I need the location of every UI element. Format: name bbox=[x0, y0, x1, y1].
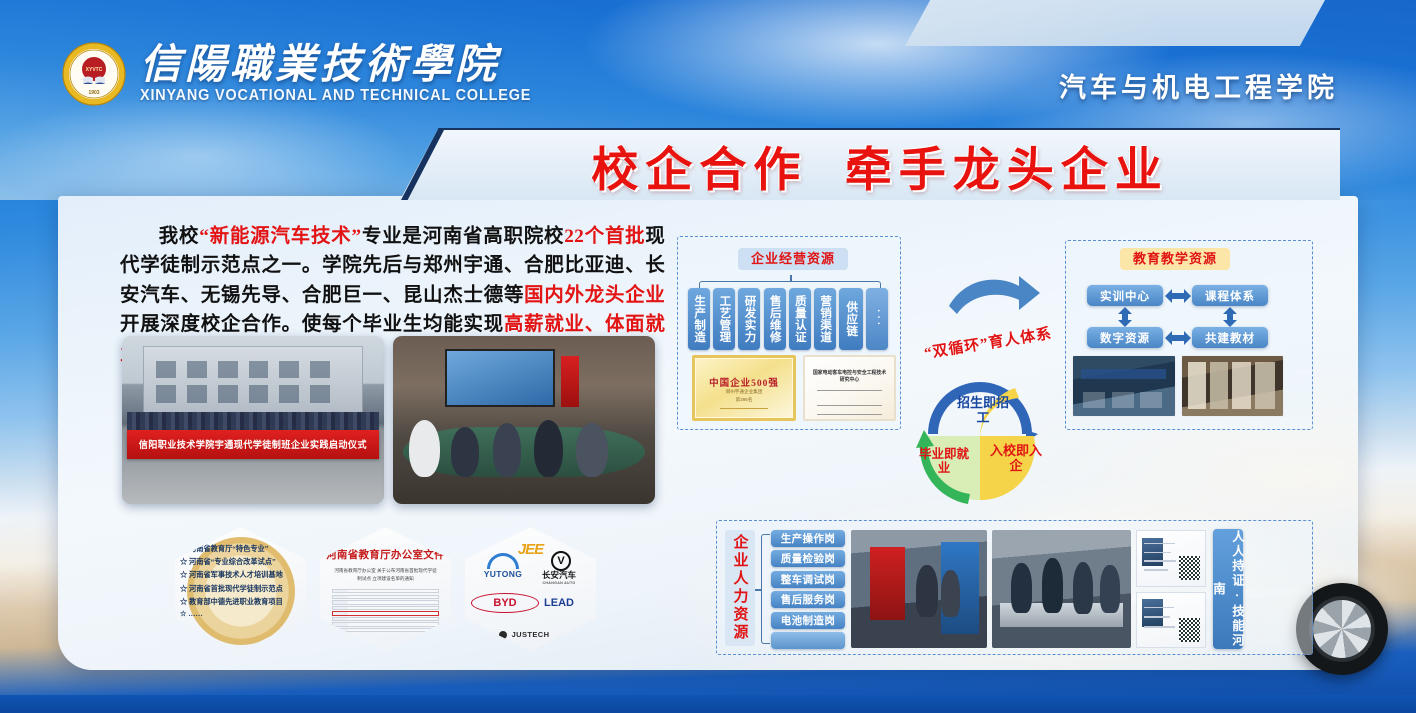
hr-certificate-evaluation bbox=[1136, 592, 1206, 649]
hex-partner-logos: JEE YUTONG V 长安汽车 CHANGAN AUTO BYD LEAD … bbox=[465, 527, 596, 651]
hr-job-list: 生产操作岗 质量检验岗 整车调试岗 售后服务岗 电池制造岗 bbox=[771, 530, 845, 649]
honor-item: 教育部中德先进职业教育项目 bbox=[180, 596, 296, 607]
changan-logo: 长安汽车 CHANGAN AUTO bbox=[530, 569, 588, 585]
photo-ceremony-image: 信阳职业技术学院宇通现代学徒制班企业实践启动仪式 bbox=[122, 336, 384, 504]
lead-logo: LEAD bbox=[530, 597, 588, 609]
enterprise-tag: 供应链 bbox=[839, 288, 863, 350]
thumb-banner-shape bbox=[1081, 369, 1166, 379]
enterprise-tag: 工艺管理 bbox=[713, 288, 735, 350]
changan-label-en: CHANGAN AUTO bbox=[530, 581, 588, 585]
document-row bbox=[332, 595, 439, 599]
education-thumb-textbooks bbox=[1181, 355, 1285, 417]
hr-job-tag: 整车调试岗 bbox=[771, 571, 845, 588]
school-name-en: XINYANG VOCATIONAL AND TECHNICAL COLLEGE bbox=[140, 87, 531, 105]
changan-mark: V bbox=[557, 555, 564, 567]
photo-ceremony: 信阳职业技术学院宇通现代学徒制班企业实践启动仪式 bbox=[122, 336, 384, 504]
honor-item: …… bbox=[180, 609, 296, 618]
hr-certificates bbox=[1136, 530, 1206, 648]
cycle-label-graduate: 毕业即就业 bbox=[915, 447, 973, 475]
svg-text:1903: 1903 bbox=[88, 90, 99, 96]
document-subtitle: 河南省教育厅办公室 关于公布河南省首批现代学徒制试点 立项建设名单的通知 bbox=[334, 567, 437, 583]
ceremony-banner-text: 信阳职业技术学院宇通现代学徒制班企业实践启动仪式 bbox=[139, 437, 367, 451]
enterprise-tag: 营销渠道 bbox=[814, 288, 836, 350]
certificate-research-center: 国家电动客车电控与安全工程技术研究中心 bbox=[803, 355, 896, 421]
yutong-logo: YUTONG bbox=[475, 569, 531, 579]
certificate-top500: 中国企业500强 郑州宇通企业集团 第395名 bbox=[692, 355, 796, 421]
hex-honors-list: 河南省教育厅“特色专业” 河南省“专业综合改革试点” 河南省军事技术人才培训基地… bbox=[175, 527, 306, 651]
enterprise-section-title: 企业经营资源 bbox=[738, 248, 848, 270]
jee-logo: JEE bbox=[465, 541, 596, 558]
hex-logos-inner: JEE YUTONG V 长安汽车 CHANGAN AUTO BYD LEAD … bbox=[465, 527, 596, 651]
document-row bbox=[332, 628, 439, 632]
education-box-digital-resources: 数字资源 bbox=[1087, 327, 1163, 348]
school-name-cn: 信陽職業技術學院 bbox=[140, 43, 561, 86]
honor-item: 河南省军事技术人才培训基地 bbox=[180, 569, 296, 580]
education-thumb-training bbox=[1072, 355, 1176, 417]
certificate-qr-icon bbox=[1179, 618, 1199, 642]
certificate-research-center-title: 国家电动客车电控与安全工程技术研究中心 bbox=[811, 370, 888, 385]
photo-meeting-image bbox=[393, 336, 655, 504]
certificate-divider bbox=[817, 390, 881, 391]
byd-logo: BYD bbox=[477, 597, 533, 609]
intro-text-4: 开展深度校企合作。使每个毕业生均能实现 bbox=[120, 314, 504, 335]
enterprise-tag: 研发实力 bbox=[738, 288, 760, 350]
changan-label-cn: 长安汽车 bbox=[542, 570, 576, 580]
hex-honors-inner: 河南省教育厅“特色专业” 河南省“专业综合改革试点” 河南省军事技术人才培训基地… bbox=[175, 527, 306, 651]
certificate-top500-rank: 第395名 bbox=[695, 397, 793, 403]
document-table bbox=[332, 589, 439, 641]
document-row bbox=[332, 589, 439, 593]
certificate-top500-title: 中国企业500强 bbox=[695, 375, 793, 389]
department-name: 汽车与机电工程学院 bbox=[1059, 66, 1338, 105]
honors-list: 河南省教育厅“特色专业” 河南省“专业综合改革试点” 河南省军事技术人才培训基地… bbox=[180, 543, 302, 618]
education-box-curriculum: 课程体系 bbox=[1192, 285, 1268, 306]
document-row-highlighted bbox=[332, 611, 439, 615]
dual-cycle-diagram bbox=[906, 372, 1054, 512]
projector-screen-shape bbox=[445, 349, 555, 406]
building-shape bbox=[143, 346, 363, 413]
certificate-divider bbox=[720, 408, 767, 409]
ceremony-banner: 信阳职业技术学院宇通现代学徒制班企业实践启动仪式 bbox=[127, 430, 379, 459]
document-row bbox=[332, 617, 439, 621]
hr-job-tag: 电池制造岗 bbox=[771, 612, 845, 629]
hr-job-tag-more bbox=[771, 632, 845, 649]
document-title: 河南省教育厅办公室文件 bbox=[320, 547, 451, 562]
education-section-title: 教育教学资源 bbox=[1120, 248, 1230, 270]
honor-item: 河南省首批现代学徒制示范点 bbox=[180, 583, 296, 594]
document-row bbox=[332, 622, 439, 626]
flag-shape bbox=[561, 356, 579, 406]
enterprise-tag-more: ··· bbox=[866, 288, 888, 350]
intro-text-1: 我校 bbox=[159, 226, 199, 247]
school-name-block: 信陽職業技術學院 XINYANG VOCATIONAL AND TECHNICA… bbox=[140, 43, 561, 105]
certificate-divider bbox=[817, 405, 881, 406]
vehicle-body-shape bbox=[870, 547, 905, 620]
edu-arrow-horizontal-top-icon bbox=[1163, 286, 1193, 306]
education-box-training-center: 实训中心 bbox=[1087, 285, 1163, 306]
page-title: 校企合作 牵手龙头企业 bbox=[571, 131, 1169, 200]
intro-text-2: 专业是河南省高职院校 bbox=[361, 226, 564, 247]
document-row bbox=[332, 600, 439, 604]
enterprise-tag-list: 生产制造 工艺管理 研发实力 售后维修 质量认证 营销渠道 供应链 ··· bbox=[688, 288, 894, 350]
hr-section-title: 企业人力资源 bbox=[725, 530, 755, 646]
honor-item: 河南省“专业综合改革试点” bbox=[180, 556, 296, 567]
document-row bbox=[332, 606, 439, 610]
hr-job-tag: 质量检验岗 bbox=[771, 550, 845, 567]
school-crest-icon: XYVTC 1903 bbox=[62, 42, 126, 106]
bottom-color-band bbox=[0, 695, 1416, 713]
honor-item: 河南省教育厅“特色专业” bbox=[180, 543, 296, 554]
school-branding: XYVTC 1903 信陽職業技術學院 XINYANG VOCATIONAL A… bbox=[62, 42, 561, 106]
hr-certificate-skill bbox=[1136, 530, 1206, 587]
ground-shape bbox=[122, 459, 384, 504]
top-flow-arrow-icon bbox=[945, 272, 1043, 324]
certificate-photo-shape bbox=[1142, 599, 1162, 627]
hr-bracket bbox=[761, 534, 770, 644]
cycle-label-recruit: 招生即招工 bbox=[952, 396, 1014, 425]
svg-text:XYVTC: XYVTC bbox=[86, 67, 103, 73]
certificate-divider bbox=[817, 414, 881, 415]
certificate-qr-icon bbox=[1179, 556, 1199, 580]
hex-government-document: 河南省教育厅办公室文件 河南省教育厅办公室 关于公布河南省首批现代学徒制试点 立… bbox=[320, 527, 451, 651]
justech-logo: JUSTECH bbox=[465, 630, 596, 639]
edu-arrow-vertical-right-icon bbox=[1220, 305, 1240, 329]
intro-highlight-major: “新能源汽车技术” bbox=[199, 226, 361, 247]
hr-right-banner: 人人持证 · 技能河南 bbox=[1213, 529, 1243, 649]
intro-highlight-enterprises: 国内外龙头企业 bbox=[524, 285, 665, 306]
hr-job-tag: 售后服务岗 bbox=[771, 591, 845, 608]
education-box-textbooks: 共建教材 bbox=[1192, 327, 1268, 348]
hr-photo-workshop bbox=[851, 530, 987, 648]
photo-meeting bbox=[393, 336, 655, 504]
certificate-top500-company: 郑州宇通企业集团 bbox=[695, 389, 793, 395]
enterprise-tag: 生产制造 bbox=[688, 288, 710, 350]
main-title-banner: 校企合作 牵手龙头企业 bbox=[400, 128, 1340, 200]
intro-highlight-count: 22个首批 bbox=[564, 226, 645, 247]
enterprise-tag: 售后维修 bbox=[764, 288, 786, 350]
honors-hexagon-row: 河南省教育厅“特色专业” 河南省“专业综合改革试点” 河南省军事技术人才培训基地… bbox=[175, 527, 596, 651]
edu-arrow-vertical-left-icon bbox=[1115, 305, 1135, 329]
edu-arrow-horizontal-bottom-icon bbox=[1163, 328, 1193, 348]
education-thumbnails bbox=[1072, 355, 1284, 417]
cycle-label-enroll: 入校即入企 bbox=[988, 444, 1044, 473]
enterprise-tag: 质量认证 bbox=[789, 288, 811, 350]
hr-job-tag: 生产操作岗 bbox=[771, 530, 845, 547]
hex-document-inner: 河南省教育厅办公室文件 河南省教育厅办公室 关于公布河南省首批现代学徒制试点 立… bbox=[320, 527, 451, 651]
changan-badge-icon: V bbox=[551, 551, 571, 571]
page-header: XYVTC 1903 信陽職業技術學院 XINYANG VOCATIONAL A… bbox=[0, 0, 1416, 135]
hr-photo-assembly bbox=[992, 530, 1131, 648]
